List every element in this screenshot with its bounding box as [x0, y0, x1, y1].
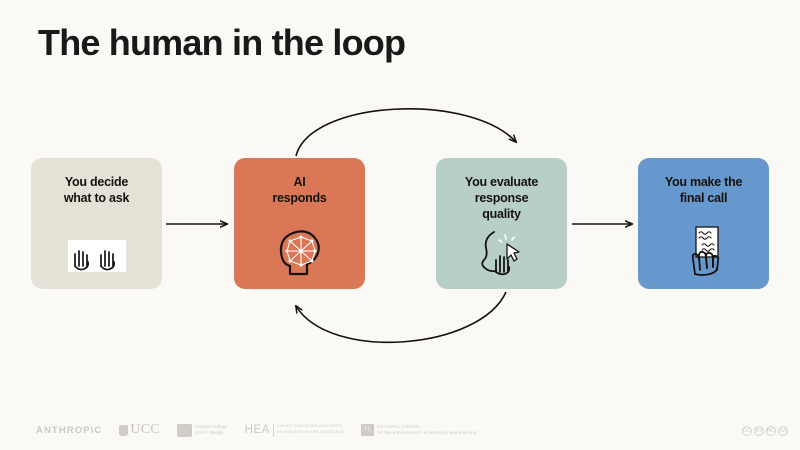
card-label-line-1: AI: [294, 175, 306, 189]
hea-divider: [273, 424, 274, 437]
card-label-line-2: final call: [680, 191, 728, 205]
card-label-line-1: You make the: [665, 175, 742, 189]
hand-document-icon: [638, 222, 769, 276]
nf-line-2: for the enhancement of teaching and lear…: [377, 430, 477, 435]
card-final-call[interactable]: You make the final call: [638, 158, 769, 289]
hea-label: HEA: [245, 424, 270, 436]
card-you-decide[interactable]: You decide what to ask: [31, 158, 162, 289]
creative-commons-badges: CC BY NC SA: [742, 426, 788, 436]
card-label: You evaluate response quality: [444, 174, 560, 222]
card-label-line-1: You evaluate: [465, 175, 538, 189]
card-label: You make the final call: [646, 174, 762, 206]
hea-sub-line-1: HIGHER EDUCATION AUTHORITY: [277, 424, 342, 428]
ncad-line-1: Kingston College: [195, 424, 228, 429]
ncad-line-2: of Art + Design: [195, 430, 223, 435]
nf-line-1: NATIONAL FORUM: [377, 424, 419, 429]
head-network-icon: [234, 222, 365, 276]
card-label: AI responds: [242, 174, 358, 206]
footer: ANTHROP\C UCC Kingston College of Art + …: [0, 408, 800, 450]
logo-strip: ANTHROP\C UCC Kingston College of Art + …: [36, 422, 477, 438]
hea-sub-line-2: AN tUDARAS um ARD-OIDEACHAS: [277, 430, 344, 434]
ncad-mark-icon: [177, 424, 192, 437]
national-forum-label: NATIONAL FORUM for the enhancement of te…: [377, 424, 477, 437]
card-label-line-2: what to ask: [64, 191, 129, 205]
card-label: You decide what to ask: [39, 174, 155, 206]
card-label-line-1: You decide: [65, 175, 128, 189]
card-label-line-3: quality: [482, 207, 521, 221]
card-label-line-2: responds: [272, 191, 326, 205]
cc-nc-badge-icon: NC: [766, 426, 776, 436]
cc-by-badge-icon: BY: [754, 426, 764, 436]
ncad-label: Kingston College of Art + Design: [195, 424, 228, 436]
arc-ai-to-evaluate: [296, 109, 516, 156]
logo-anthropic: ANTHROP\C: [36, 425, 102, 436]
cc-sa-badge-icon: SA: [778, 426, 788, 436]
hea-sublabel: HIGHER EDUCATION AUTHORITY AN tUDARAS um…: [277, 424, 344, 435]
logo-national-forum: TL NATIONAL FORUM for the enhancement of…: [361, 424, 477, 437]
arc-evaluate-to-ai: [296, 292, 506, 342]
card-label-line-2: response: [475, 191, 529, 205]
logo-ucc: UCC: [119, 422, 160, 438]
two-hands-icon: [31, 222, 162, 276]
hand-cursor-icon: [436, 222, 567, 276]
national-forum-mark-icon: TL: [361, 424, 374, 436]
slide-canvas: The human in the loop You decide what to…: [0, 0, 800, 450]
logo-ncad: Kingston College of Art + Design: [177, 424, 228, 437]
cc-badge-icon: CC: [742, 426, 752, 436]
card-ai-responds[interactable]: AI responds: [234, 158, 365, 289]
card-you-evaluate[interactable]: You evaluate response quality: [436, 158, 567, 289]
logo-hea: HEA HIGHER EDUCATION AUTHORITY AN tUDARA…: [245, 424, 344, 437]
ucc-crest-icon: [119, 425, 128, 436]
ucc-label: UCC: [130, 422, 160, 438]
page-title: The human in the loop: [38, 22, 405, 63]
